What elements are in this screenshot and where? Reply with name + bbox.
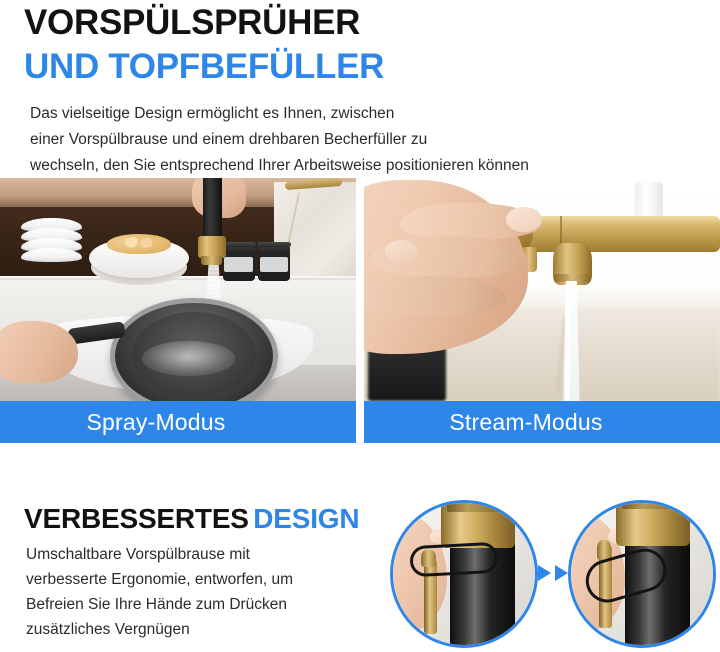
sprayer-body [203, 178, 223, 240]
caption-spray-mode-label: Spray-Modus [87, 409, 226, 436]
intro-line-1: Das vielseitige Design ermöglicht es Ihn… [30, 101, 696, 127]
sprayer-lever-left [409, 542, 499, 578]
circle-photo-lever-pressed [568, 500, 716, 648]
canister-2 [258, 245, 290, 281]
product-infographic: VORSPÜLSPRÜHER UND TOPFBEFÜLLER Das viel… [0, 0, 720, 652]
bottom-line-4: zusätzliches Vergnügen [26, 617, 366, 642]
transition-arrows [538, 564, 572, 582]
photo-stream-mode [364, 178, 720, 401]
sprayer-gold-band [198, 236, 226, 258]
stacked-bowls [21, 218, 82, 280]
circle-photo-lever-released [390, 500, 538, 648]
caption-stream-mode: Stream-Modus [364, 401, 720, 443]
caption-spray-mode: Spray-Modus [0, 401, 356, 443]
section-title-black: VERBESSERTES [24, 503, 249, 534]
pasta-food [107, 234, 171, 254]
panel-stream-mode: Stream-Modus [364, 178, 720, 443]
headline-line-2: UND TOPFBEFÜLLER [24, 46, 684, 88]
water-splash [142, 341, 235, 377]
sprayer-nozzle [201, 256, 222, 265]
bottom-line-3: Befreien Sie Ihre Hände zum Drücken [26, 592, 366, 617]
arrow-right-icon-1 [538, 565, 551, 581]
photo-spray-mode [0, 178, 356, 401]
caption-stream-mode-label: Stream-Modus [449, 409, 602, 436]
product-detail-circles [386, 498, 720, 652]
bottom-paragraph: Umschaltbare Vorspülbrause mit verbesser… [26, 542, 366, 642]
sprayer-gold-collar-left [447, 500, 515, 512]
sprayer-gold-collar-right [622, 500, 690, 509]
section-title-blue: DESIGN [253, 503, 359, 534]
fingernail-index [506, 207, 542, 232]
fingernail-middle [385, 240, 417, 262]
mode-panels: Spray-Modus [0, 178, 720, 443]
page-title: VORSPÜLSPRÜHER UND TOPFBEFÜLLER [24, 2, 684, 88]
bottom-line-2: verbesserte Ergonomie, entworfen, um [26, 567, 366, 592]
intro-paragraph: Das vielseitige Design ermöglicht es Ihn… [30, 101, 696, 179]
headline-line-1: VORSPÜLSPRÜHER [24, 2, 684, 44]
intro-line-2: einer Vorspülbrause und einem drehbaren … [30, 127, 696, 153]
section-title-improved-design: VERBESSERTES DESIGN [24, 503, 359, 535]
finger-ring [364, 276, 506, 316]
bottom-line-1: Umschaltbare Vorspülbrause mit [26, 542, 366, 567]
sprayer-knob-right [597, 540, 611, 560]
intro-line-3: wechseln, den Sie entsprechend Ihrer Arb… [30, 153, 696, 179]
canister-1 [223, 245, 255, 281]
hand-holding-pan [0, 321, 78, 383]
spout-nozzle-ring [554, 274, 590, 282]
panel-spray-mode: Spray-Modus [0, 178, 356, 443]
arrow-right-icon-2 [555, 565, 568, 581]
